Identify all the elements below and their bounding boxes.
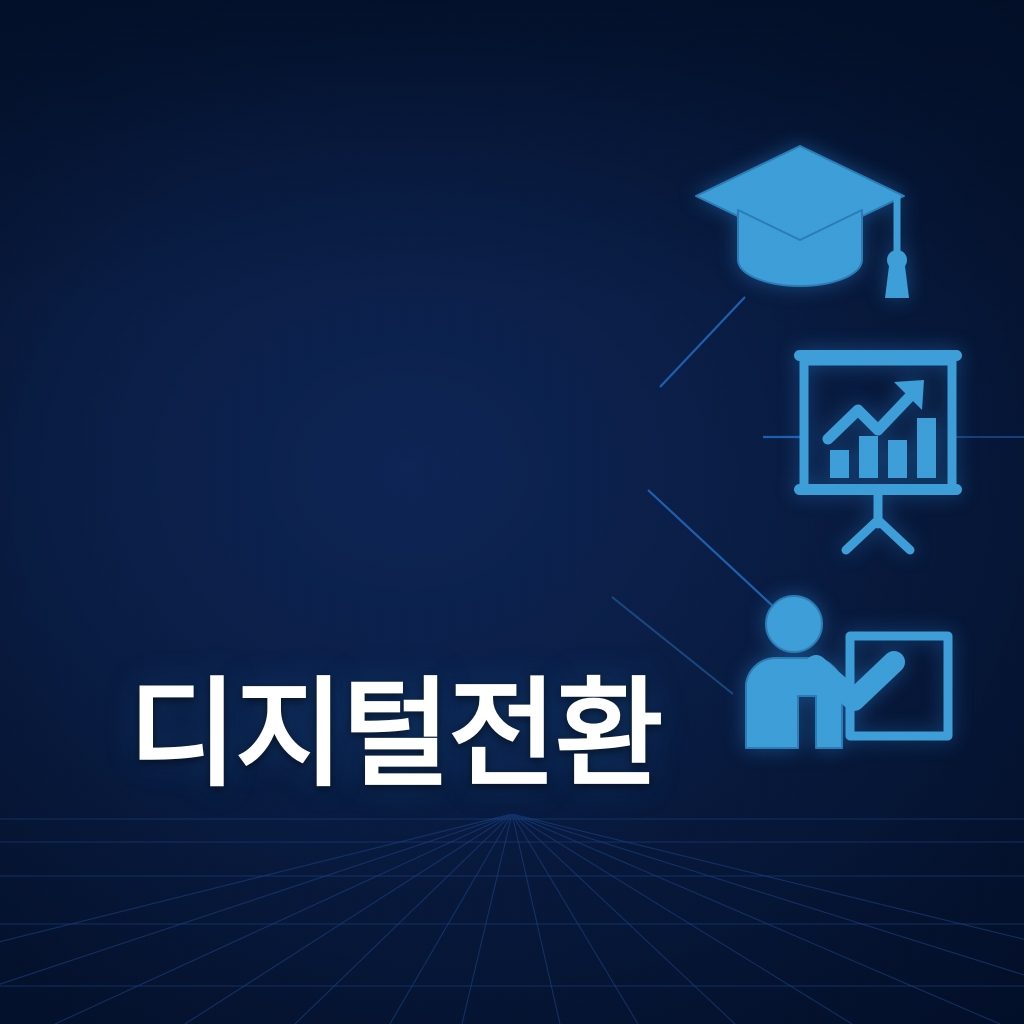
poster-canvas: 디지털전환 교육 [0,0,1024,1024]
background-noise-overlay [0,0,1024,1024]
